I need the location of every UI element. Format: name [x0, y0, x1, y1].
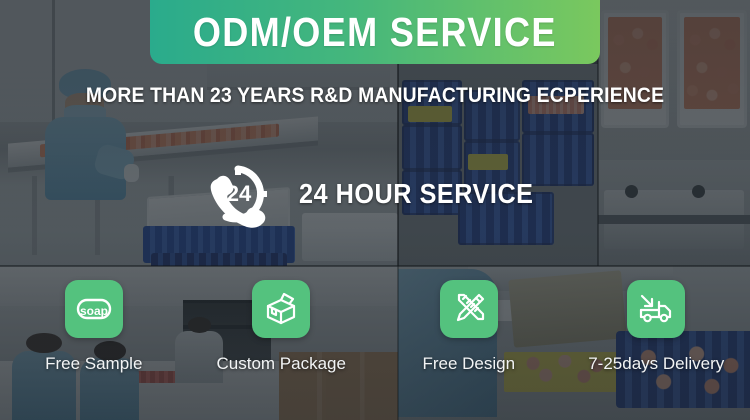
- feature-free-sample[interactable]: soap Free Sample: [0, 280, 188, 374]
- feature-tile-custom-package: [252, 280, 310, 338]
- feature-free-design[interactable]: Free Design: [375, 280, 563, 374]
- feature-tile-delivery: [627, 280, 685, 338]
- page-title: ODM/OEM SERVICE: [193, 9, 557, 56]
- package-box-icon: [262, 290, 300, 328]
- service-row: 24 24 HOUR SERVICE: [0, 160, 750, 228]
- feature-label-custom-package: Custom Package: [217, 354, 346, 374]
- feature-custom-package[interactable]: Custom Package: [188, 280, 376, 374]
- title-banner: ODM/OEM SERVICE: [150, 0, 600, 64]
- feature-label-delivery: 7-25days Delivery: [588, 354, 724, 374]
- service-label: 24 HOUR SERVICE: [299, 178, 534, 210]
- feature-delivery[interactable]: 7-25days Delivery: [563, 280, 750, 374]
- soap-icon: soap: [75, 290, 113, 328]
- feature-label-free-sample: Free Sample: [45, 354, 142, 374]
- feature-tile-free-sample: soap: [65, 280, 123, 338]
- delivery-truck-icon: [637, 290, 675, 328]
- phone-clock-icon: 24: [204, 160, 272, 228]
- pencil-ruler-icon: [450, 290, 488, 328]
- subtitle-text: MORE THAN 23 YEARS R&D MANUFACTURING ECP…: [30, 84, 720, 108]
- feature-label-free-design: Free Design: [422, 354, 515, 374]
- feature-tile-free-design: [440, 280, 498, 338]
- svg-text:soap: soap: [80, 304, 108, 318]
- promo-banner: ODM/OEM SERVICE MORE THAN 23 YEARS R&D M…: [0, 0, 750, 420]
- svg-text:24: 24: [226, 181, 251, 206]
- feature-list: soap Free Sample: [0, 280, 750, 374]
